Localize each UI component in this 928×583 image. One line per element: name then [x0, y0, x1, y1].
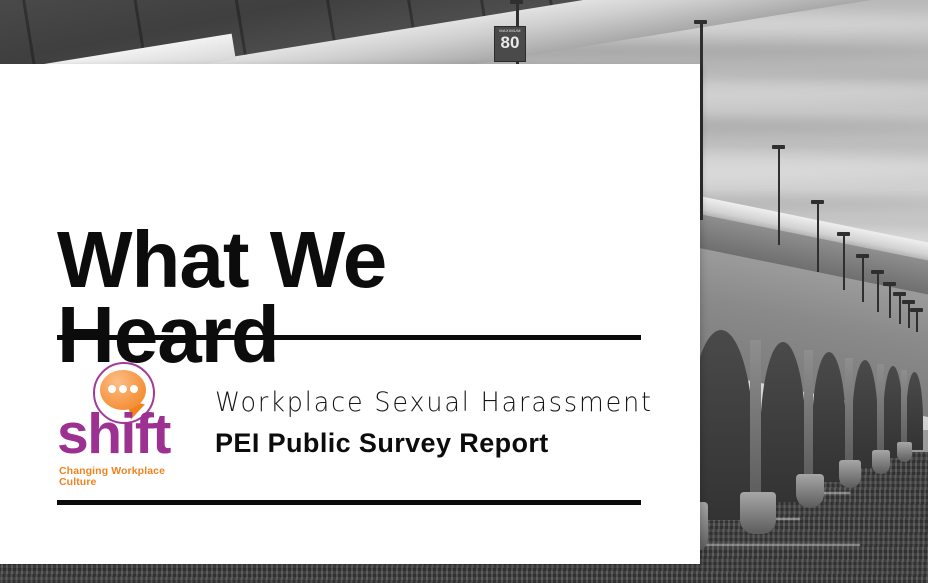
bridge-footing: [740, 492, 776, 534]
divider-bottom: [57, 500, 641, 505]
ellipsis-dot-icon: [130, 385, 138, 393]
shift-logo: shift Changing Workplace Culture: [57, 360, 190, 490]
bridge-footing: [796, 474, 824, 508]
ellipsis-dot-icon: [119, 385, 127, 393]
light-pole: [700, 20, 703, 220]
page-title: What We Heard: [57, 222, 657, 372]
sign-label-speed: 80: [495, 34, 525, 51]
light-pole: [817, 200, 819, 272]
logo-tagline: Changing Workplace Culture: [59, 466, 199, 487]
light-pole: [778, 145, 780, 245]
light-pole: [862, 254, 864, 302]
light-pole: [843, 232, 845, 290]
speed-limit-sign: MAXIMUM 80: [494, 26, 526, 62]
divider-top: [57, 335, 641, 340]
subtitle-primary: Workplace Sexual Harassment: [215, 387, 653, 418]
light-pole: [889, 282, 891, 318]
cover-card: What We Heard shift Changing Workplace C…: [0, 64, 700, 564]
light-pole: [908, 300, 910, 328]
report-cover-page: MAXIMUM 80: [0, 0, 928, 583]
ellipsis-dot-icon: [108, 385, 116, 393]
bridge-footing: [839, 460, 861, 488]
light-pole: [899, 292, 901, 324]
light-pole: [916, 308, 918, 332]
bridge-footing: [872, 450, 890, 474]
logo-wordmark: shift: [57, 406, 190, 463]
light-pole: [877, 270, 879, 312]
subtitle-secondary: PEI Public Survey Report: [215, 428, 549, 459]
bridge-footing: [897, 442, 912, 462]
